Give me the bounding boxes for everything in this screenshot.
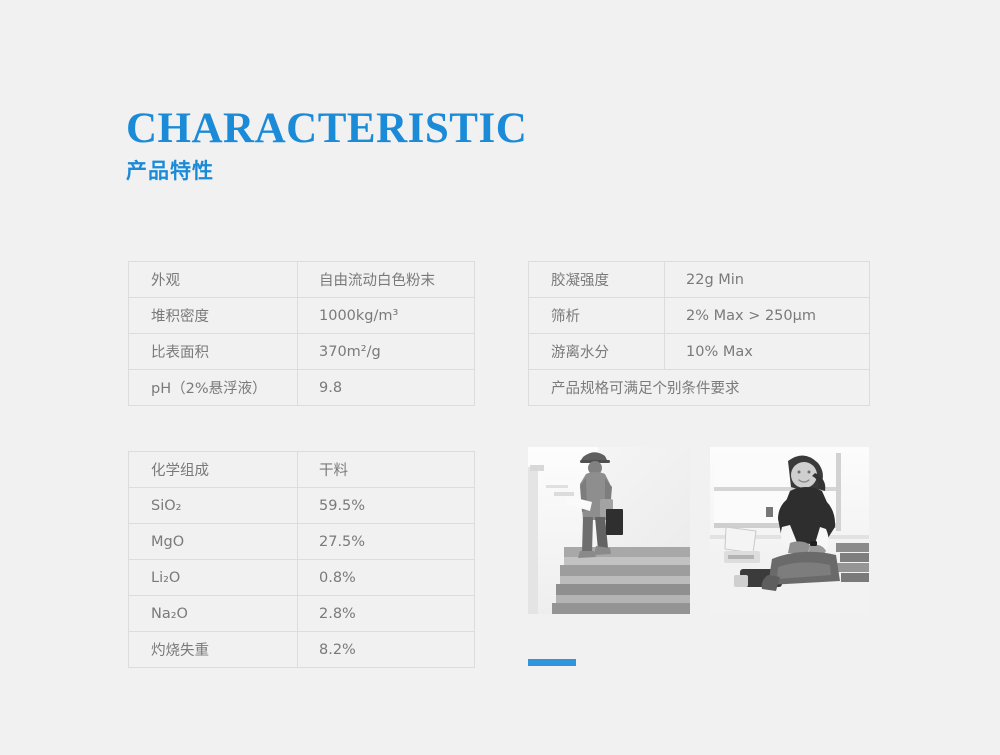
chemical-composition-table: 化学组成 干料 SiO₂ 59.5% MgO 27.5% Li₂O 0.8% N… [128,451,475,668]
performance-note: 产品规格可满足个别条件要求 [529,370,870,406]
appearance-spec-table: 外观 自由流动白色粉末 堆积密度 1000kg/m³ 比表面积 370m²/g … [128,261,475,406]
spec-value: 27.5% [298,524,475,560]
spec-value: 22g Min [665,262,870,298]
page-title-english: CHARACTERISTIC [126,106,527,152]
spec-label: pH（2%悬浮液） [129,370,298,406]
spec-value: 自由流动白色粉末 [298,262,475,298]
table-row: pH（2%悬浮液） 9.8 [129,370,475,406]
spec-value: 1000kg/m³ [298,298,475,334]
spec-value: 10% Max [665,334,870,370]
spec-label: 筛析 [529,298,665,334]
spec-label: 化学组成 [129,452,298,488]
table-row: MgO 27.5% [129,524,475,560]
table-row: SiO₂ 59.5% [129,488,475,524]
spec-label: Li₂O [129,560,298,596]
table-row: 灼烧失重 8.2% [129,632,475,668]
spec-label: 游离水分 [529,334,665,370]
table-row: 外观 自由流动白色粉末 [129,262,475,298]
spec-value: 0.8% [298,560,475,596]
table-row: 化学组成 干料 [129,452,475,488]
table-row: Na₂O 2.8% [129,596,475,632]
spec-value: 2.8% [298,596,475,632]
accent-bar [528,659,576,666]
spec-label: MgO [129,524,298,560]
table-row: 胶凝强度 22g Min [529,262,870,298]
table-row: 比表面积 370m²/g [129,334,475,370]
spec-label: Na₂O [129,596,298,632]
table-row-note: 产品规格可满足个别条件要求 [529,370,870,406]
spec-label: 比表面积 [129,334,298,370]
spec-value: 59.5% [298,488,475,524]
spec-label: 外观 [129,262,298,298]
spec-label: 胶凝强度 [529,262,665,298]
spec-value: 干料 [298,452,475,488]
page-title-chinese: 产品特性 [126,158,527,184]
spec-value: 8.2% [298,632,475,668]
spec-value: 9.8 [298,370,475,406]
spec-label: 堆积密度 [129,298,298,334]
product-characteristic-page: CHARACTERISTIC 产品特性 外观 自由流动白色粉末 堆积密度 100… [0,0,1000,755]
table-row: 游离水分 10% Max [529,334,870,370]
performance-spec-table: 胶凝强度 22g Min 筛析 2% Max > 250μm 游离水分 10% … [528,261,870,406]
spec-value: 2% Max > 250μm [665,298,870,334]
photo-worker-tiling [710,447,869,614]
table-row: 筛析 2% Max > 250μm [529,298,870,334]
table-row: Li₂O 0.8% [129,560,475,596]
spec-label: 灼烧失重 [129,632,298,668]
page-heading: CHARACTERISTIC 产品特性 [126,106,527,184]
photo-worker-stairs [528,447,690,614]
table-row: 堆积密度 1000kg/m³ [129,298,475,334]
spec-label: SiO₂ [129,488,298,524]
spec-value: 370m²/g [298,334,475,370]
